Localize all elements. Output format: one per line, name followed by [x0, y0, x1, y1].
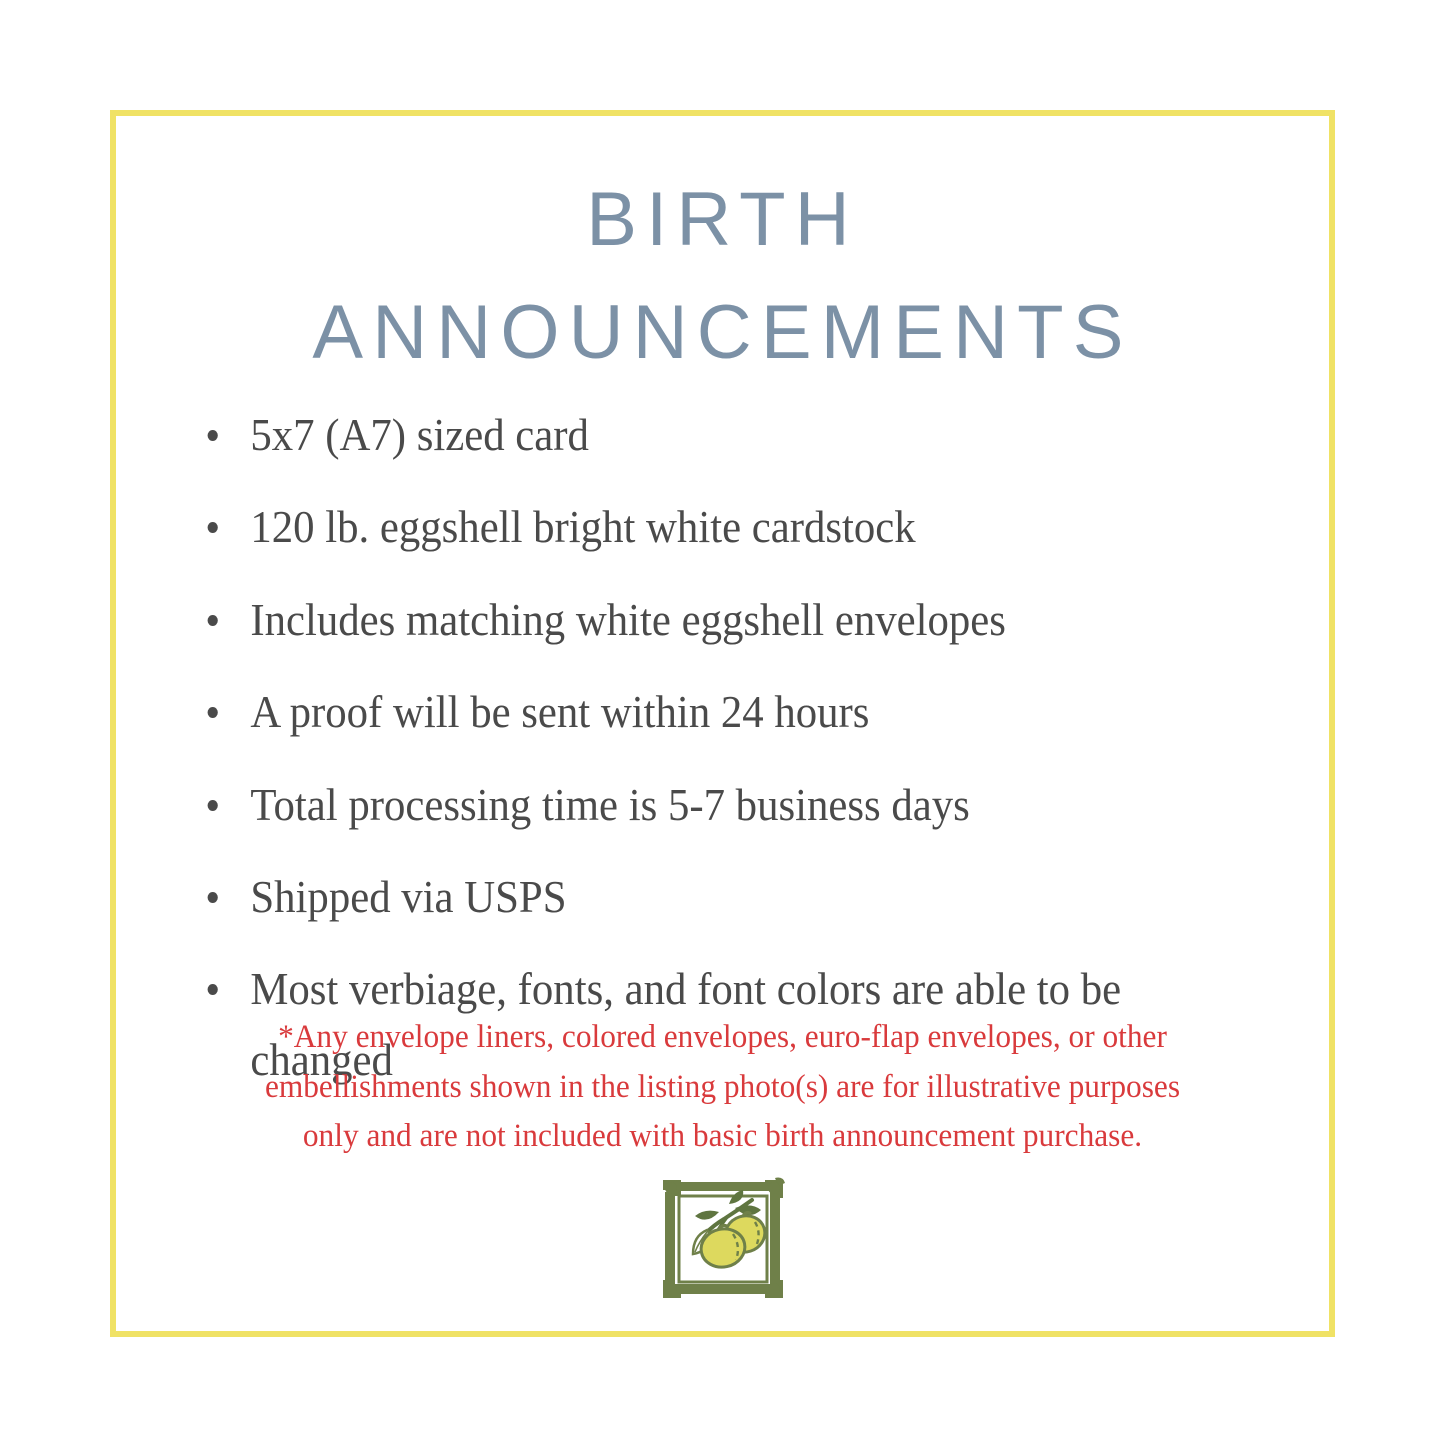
disclaimer-text: *Any envelope liners, colored envelopes,… [178, 1013, 1267, 1162]
bullet-dot-icon [208, 615, 218, 626]
bullet-dot-icon [208, 984, 218, 995]
disclaimer-line-1: *Any envelope liners, colored envelopes,… [205, 1013, 1240, 1063]
title-line-1: Birth [116, 152, 1329, 263]
list-item: 120 lb. eggshell bright white cardstock [202, 492, 1188, 562]
list-item: Shipped via USPS [202, 862, 1188, 932]
list-item: Total processing time is 5-7 business da… [202, 770, 1188, 840]
title-line-2: Announcements [116, 265, 1329, 376]
list-item-label: Total processing time is 5-7 business da… [250, 779, 969, 830]
list-item-label: A proof will be sent within 24 hours [250, 686, 869, 737]
bullet-dot-icon [208, 800, 218, 811]
bullet-dot-icon [208, 707, 218, 718]
list-item-label: 5x7 (A7) sized card [250, 409, 589, 460]
feature-list: 5x7 (A7) sized card 120 lb. eggshell bri… [202, 400, 1262, 1095]
bullet-dot-icon [208, 430, 218, 441]
bullet-dot-icon [208, 522, 218, 533]
list-item: Includes matching white eggshell envelop… [202, 585, 1188, 655]
list-item-label: Shipped via USPS [250, 871, 566, 922]
card-inner: Birth Announcements 5x7 (A7) sized card … [116, 116, 1329, 1331]
list-item: 5x7 (A7) sized card [202, 400, 1188, 470]
brand-logo [116, 1176, 1329, 1302]
disclaimer-line-2: embellishments shown in the listing phot… [205, 1063, 1240, 1113]
list-item-label: 120 lb. eggshell bright white cardstock [250, 501, 915, 552]
announcement-card: Birth Announcements 5x7 (A7) sized card … [110, 110, 1335, 1337]
lemon-branch-logo-icon [657, 1176, 789, 1302]
list-item-label: Includes matching white eggshell envelop… [250, 594, 1006, 645]
page-title: Birth Announcements [116, 152, 1329, 376]
bullet-dot-icon [208, 892, 218, 903]
list-item: A proof will be sent within 24 hours [202, 677, 1188, 747]
disclaimer-line-3: only and are not included with basic bir… [205, 1112, 1240, 1162]
